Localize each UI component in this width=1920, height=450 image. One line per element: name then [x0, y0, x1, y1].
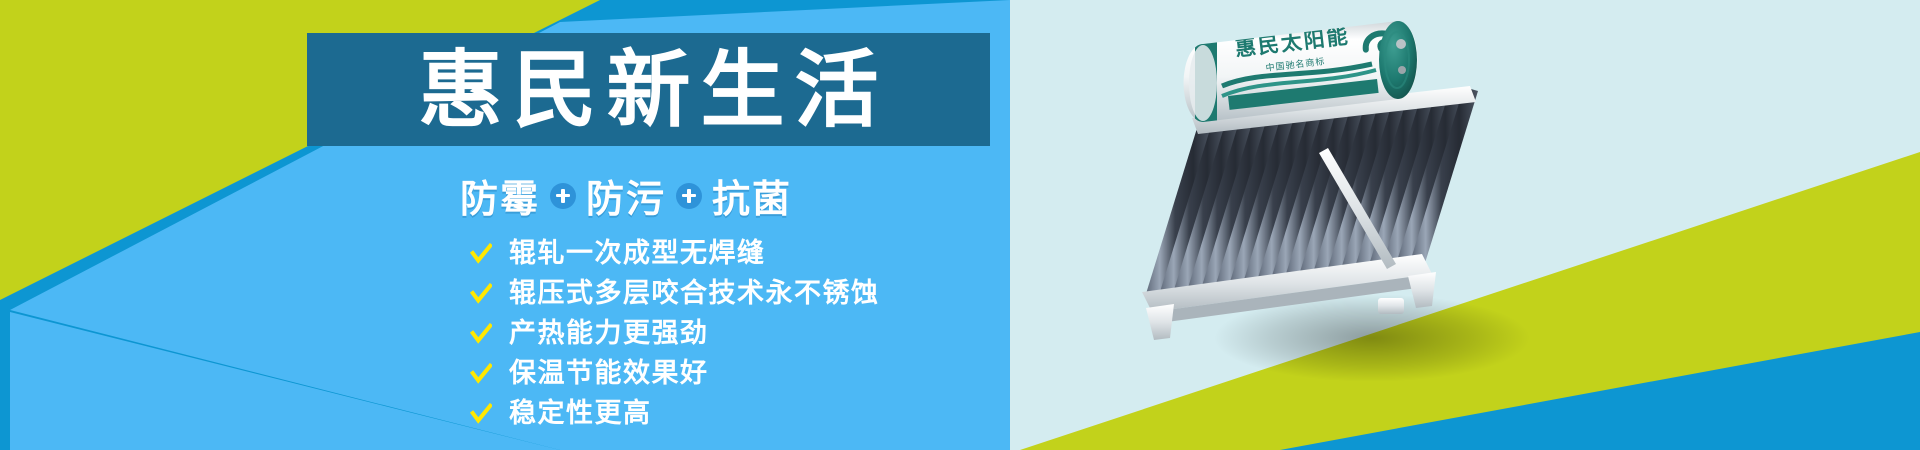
headline-text: 惠民新生活	[408, 48, 888, 132]
feature-item: 辊轧一次成型无焊缝	[470, 238, 880, 271]
check-icon	[470, 243, 492, 265]
feature-item: 辊压式多层咬合技术永不锈蚀	[470, 278, 880, 311]
tank-left-end	[1189, 45, 1217, 121]
feature-item: 稳定性更高	[470, 398, 880, 431]
promo-banner: 惠民新生活 防霉 防污 抗菌 辊轧一次成型无焊缝 辊压式多层咬合技术永不锈蚀	[0, 0, 1920, 450]
feature-item: 保温节能效果好	[470, 358, 880, 391]
subtitle-part-2: 防污	[586, 168, 666, 223]
headline-box: 惠民新生活	[307, 33, 990, 146]
front-foot-left	[1146, 304, 1174, 340]
feature-label: 辊轧一次成型无焊缝	[509, 238, 766, 271]
check-icon	[470, 403, 492, 425]
feature-label: 辊压式多层咬合技术永不锈蚀	[509, 278, 880, 311]
subtitle-part-1: 防霉	[460, 168, 540, 223]
feature-label: 稳定性更高	[509, 398, 652, 431]
check-icon	[470, 363, 492, 385]
plus-circle-icon	[550, 183, 576, 209]
product-image-solar-water-heater: 惠民太阳能 中国驰名商标	[1140, 8, 1560, 428]
feature-list: 辊轧一次成型无焊缝 辊压式多层咬合技术永不锈蚀 产热能力更强劲 保温节能效果好	[470, 238, 880, 431]
feature-item: 产热能力更强劲	[470, 318, 880, 351]
feature-label: 产热能力更强劲	[509, 318, 709, 351]
check-icon	[470, 323, 492, 345]
tank-cap-fitting	[1398, 66, 1406, 74]
feature-label: 保温节能效果好	[509, 358, 709, 391]
plus-circle-icon	[676, 183, 702, 209]
subtitle-part-3: 抗菌	[712, 168, 792, 223]
support-frame-rear-foot	[1378, 298, 1404, 314]
banner-content: 惠民新生活 防霉 防污 抗菌 辊轧一次成型无焊缝 辊压式多层咬合技术永不锈蚀	[0, 0, 1010, 450]
tank-cap-fitting	[1396, 39, 1406, 49]
subtitle-row: 防霉 防污 抗菌	[460, 168, 792, 223]
check-icon	[470, 283, 492, 305]
